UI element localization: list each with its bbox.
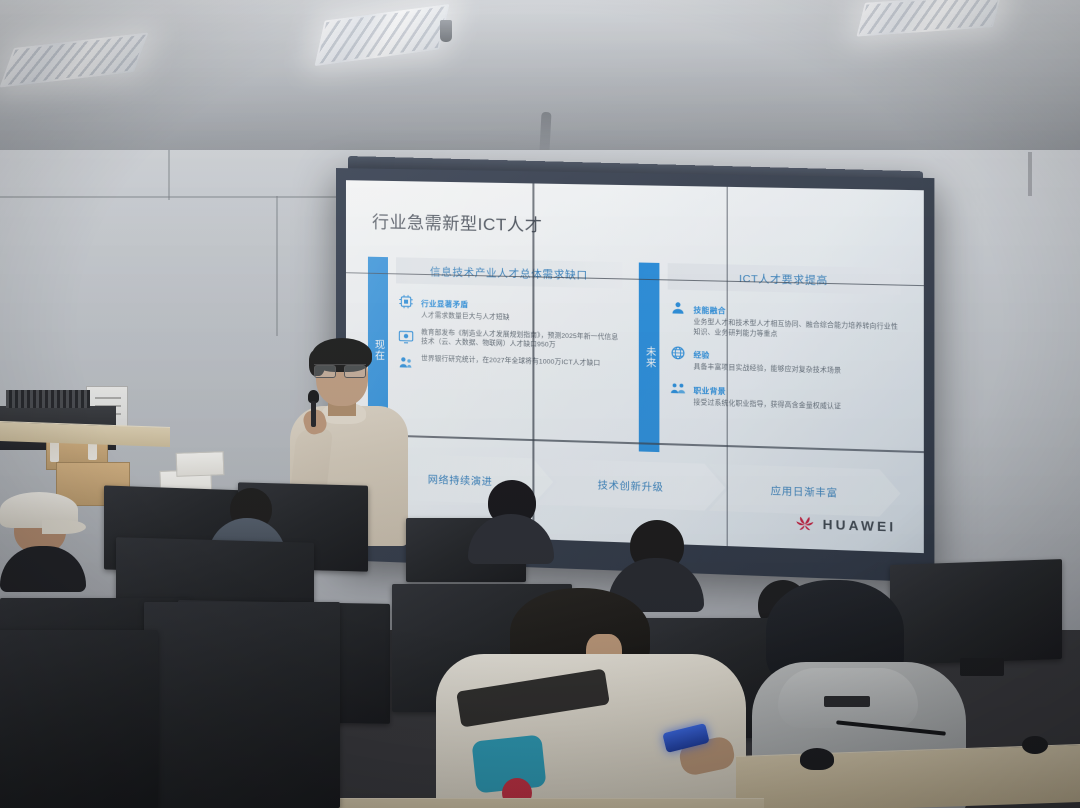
classroom-scene: 行业急需新型ICT人才 现在 信息技术产业人才总体需求缺口 [0,0,1080,808]
list-item-heading: 经验 [693,350,709,360]
list-item-desc: 世界银行研究统计，在2027年全球将有1000万ICT人才缺口 [421,354,600,368]
slide-title: 行业急需新型ICT人才 [372,208,543,236]
chip-icon [398,293,414,309]
hood-label [824,696,870,707]
student-cream-jacket [436,588,772,808]
audience-area [0,430,1080,808]
monitor [144,602,340,808]
list-item: 世界银行研究统计，在2027年全球将有1000万ICT人才缺口 [398,353,622,376]
mouse-icon [1022,736,1048,754]
desk-surface [736,744,1080,808]
monitor [0,630,158,808]
list-item-desc: 人才需求数量巨大与人才短缺 [421,311,510,323]
list-item-desc: 业务型人才和技术型人才相互协同、融合综合能力培养转向行业性知识、业务研判能力等重… [693,318,900,343]
list-item: 职业背景 接受过系统化职业指导，获得高含金量权威认证 [670,379,901,414]
microphone-icon [308,390,319,403]
glasses-icon [314,364,366,375]
list-item: 教育部发布《制造业人才发展规划指南》，预测2025年新一代信息技术（云、大数据、… [398,327,622,352]
wall-seam [168,150,170,200]
globe-icon [670,345,687,362]
list-item-heading: 行业显著矛盾 [421,299,468,309]
list-item-desc: 教育部发布《制造业人才发展规划指南》，预测2025年新一代信息技术（云、大数据、… [421,328,622,352]
wall-mark [1028,152,1032,196]
list-item: 行业显著矛盾 人才需求数量巨大与人才短缺 [398,292,622,325]
list-item-desc: 具备丰富项目实战经验，能够应对复杂技术场景 [693,363,841,377]
mouse-icon [800,748,834,770]
cap-brim [42,520,86,534]
column-tab-future: 未来 [639,263,660,453]
list-item: 技能融合 业务型人才和技术型人才相互协同、融合综合能力培养转向行业性知识、业务研… [670,299,901,343]
list-item-heading: 职业背景 [693,386,725,396]
student-dark-hair [468,480,554,558]
group-icon [670,380,687,397]
list-item-heading: 技能融合 [693,305,725,315]
person-icon [670,300,687,317]
list-item: 经验 具备丰富项目实战经验，能够应对复杂技术场景 [670,344,901,378]
wall-seam [276,196,278,336]
student-white-cap [0,488,86,578]
wall-seam [0,196,340,198]
list-item-desc: 接受过系统化职业指导，获得高含金量权威认证 [693,398,841,412]
